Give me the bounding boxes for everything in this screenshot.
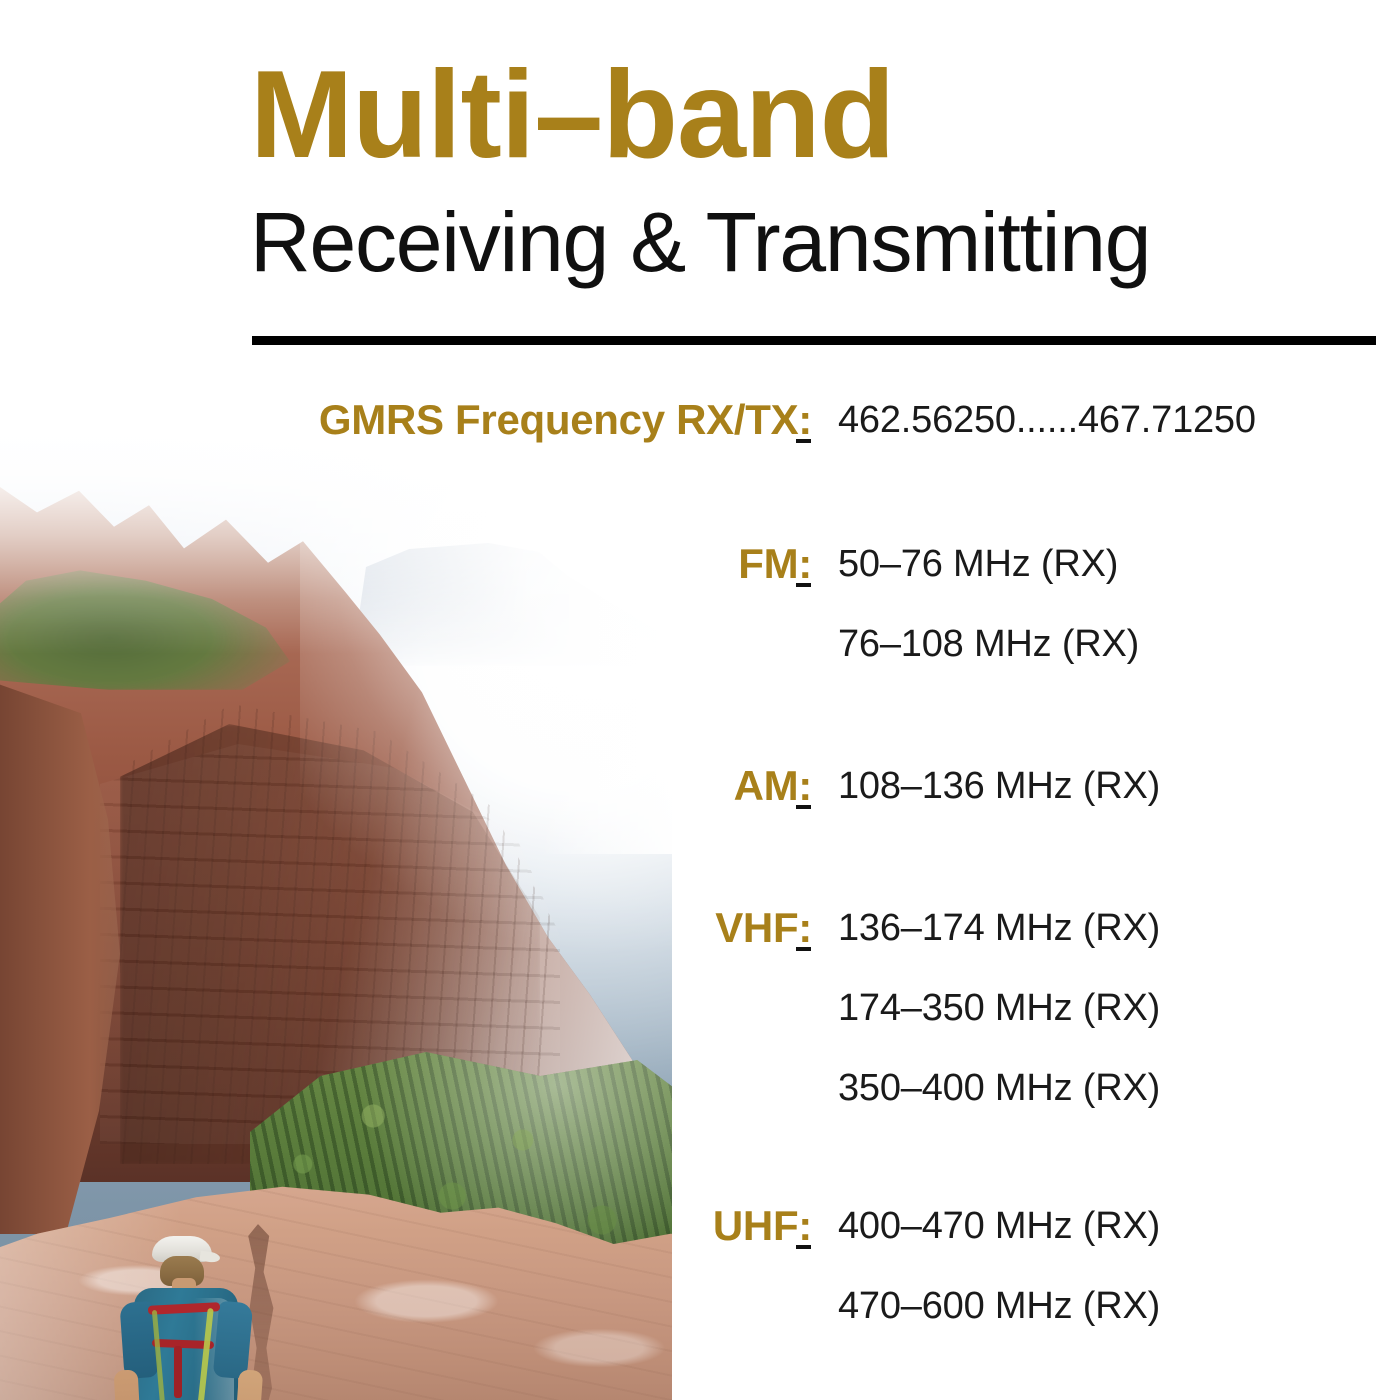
spec-row-fm: FM: 50–76 MHz (RX) 76–108 MHz (RX): [250, 536, 1380, 672]
spec-label-am: AM:: [734, 758, 812, 814]
spec-label-cell-fm: FM:: [250, 536, 838, 592]
header-block: Multi–band Receiving & Transmitting: [0, 0, 1400, 350]
spec-value: 108–136 MHz (RX): [838, 758, 1380, 814]
spec-value: 350–400 MHz (RX): [838, 1060, 1380, 1116]
value-gap: [838, 956, 1380, 980]
label-underbar-icon: [796, 805, 811, 809]
product-spec-infographic: Multi–band Receiving & Transmitting GMRS…: [0, 0, 1400, 1400]
spec-value: 136–174 MHz (RX): [838, 900, 1380, 956]
page-title: Multi–band: [250, 52, 1380, 178]
spec-label-fm-text: FM:: [738, 540, 812, 587]
label-underbar-icon: [796, 583, 811, 587]
spec-values-vhf: 136–174 MHz (RX) 174–350 MHz (RX) 350–40…: [838, 900, 1380, 1116]
specification-list: GMRS Frequency RX/TX: 462.56250......467…: [250, 392, 1380, 1334]
spec-label-cell-uhf: UHF:: [250, 1198, 838, 1254]
header-divider: [252, 336, 1376, 345]
page-subtitle: Receiving & Transmitting: [250, 200, 1380, 284]
spec-row-gmrs: GMRS Frequency RX/TX: 462.56250......467…: [250, 392, 1380, 448]
spec-value: 174–350 MHz (RX): [838, 980, 1380, 1036]
spec-label-fm: FM:: [738, 536, 812, 592]
label-underbar-icon: [796, 1245, 811, 1249]
spec-row-vhf: VHF: 136–174 MHz (RX) 174–350 MHz (RX) 3…: [250, 900, 1380, 1116]
spec-row-uhf: UHF: 400–470 MHz (RX) 470–600 MHz (RX): [250, 1198, 1380, 1334]
value-gap: [838, 1036, 1380, 1060]
spec-label-gmrs-text: GMRS Frequency RX/TX:: [319, 396, 812, 443]
spec-label-uhf-text: UHF:: [713, 1202, 812, 1249]
label-underbar-icon: [796, 439, 811, 443]
spec-label-cell-gmrs: GMRS Frequency RX/TX:: [250, 392, 838, 448]
spec-values-uhf: 400–470 MHz (RX) 470–600 MHz (RX): [838, 1198, 1380, 1334]
spec-label-gmrs: GMRS Frequency RX/TX:: [319, 392, 812, 448]
label-underbar-icon: [796, 947, 811, 951]
spec-value: 76–108 MHz (RX): [838, 616, 1380, 672]
spec-row-am: AM: 108–136 MHz (RX): [250, 758, 1380, 814]
spec-label-vhf: VHF:: [715, 900, 812, 956]
backpack-red-strap-vertical: [174, 1346, 182, 1398]
spec-label-am-text: AM:: [734, 762, 812, 809]
spec-values-am: 108–136 MHz (RX): [838, 758, 1380, 814]
value-gap: [838, 1254, 1380, 1278]
spec-value: 400–470 MHz (RX): [838, 1198, 1380, 1254]
spec-label-vhf-text: VHF:: [715, 904, 812, 951]
spec-values-gmrs: 462.56250......467.71250: [838, 392, 1380, 448]
right-sleeve: [213, 1301, 253, 1380]
spec-label-cell-am: AM:: [250, 758, 838, 814]
value-gap: [838, 592, 1380, 616]
spec-label-uhf: UHF:: [713, 1198, 812, 1254]
spec-value: 462.56250......467.71250: [838, 392, 1380, 448]
spec-label-cell-vhf: VHF:: [250, 900, 838, 956]
spec-value: 50–76 MHz (RX): [838, 536, 1380, 592]
spec-values-fm: 50–76 MHz (RX) 76–108 MHz (RX): [838, 536, 1380, 672]
spec-value: 470–600 MHz (RX): [838, 1278, 1380, 1334]
